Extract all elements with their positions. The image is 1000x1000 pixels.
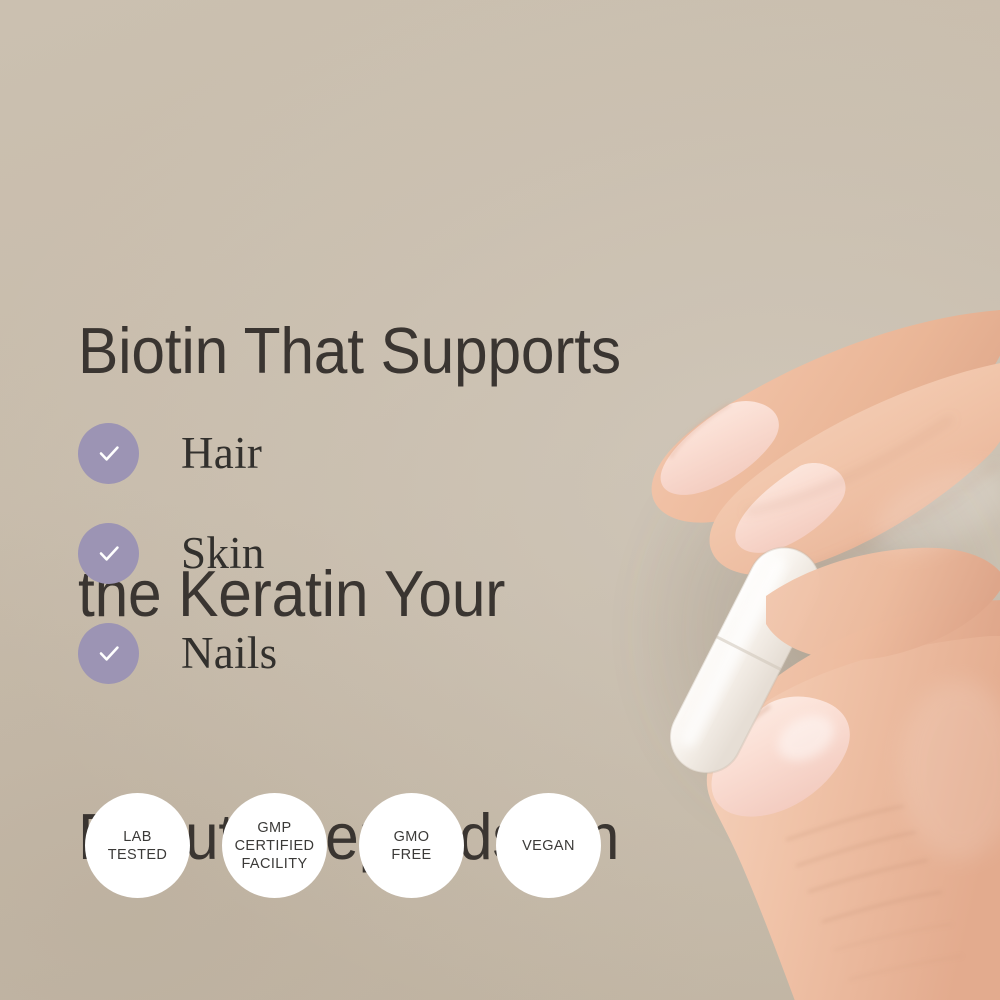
product-marketing-card: Biotin That Supports the Keratin Your Be… [0, 0, 1000, 1000]
check-icon [78, 523, 139, 584]
check-icon [78, 423, 139, 484]
trust-badge-group: LAB TESTED GMP CERTIFIED FACILITY GMO FR… [85, 793, 601, 898]
badge-line: GMO [394, 828, 430, 846]
badge-line: CERTIFIED [235, 837, 315, 855]
badge-line: FREE [391, 846, 431, 864]
badge-line: VEGAN [522, 837, 575, 855]
benefit-label-hair: Hair [181, 431, 262, 476]
trust-badge-gmp-certified-facility: GMP CERTIFIED FACILITY [222, 793, 327, 898]
badge-line: LAB [123, 828, 152, 846]
badge-line: GMP [257, 819, 291, 837]
badge-line: TESTED [108, 846, 168, 864]
check-icon [78, 623, 139, 684]
benefit-item-nails: Nails [78, 622, 408, 684]
trust-badge-lab-tested: LAB TESTED [85, 793, 190, 898]
headline-line-1: Biotin That Supports [78, 310, 729, 391]
benefit-item-skin: Skin [78, 522, 408, 584]
trust-badge-vegan: VEGAN [496, 793, 601, 898]
benefit-list: Hair Skin Nails [78, 422, 408, 684]
badge-line: FACILITY [241, 855, 307, 873]
benefit-label-nails: Nails [181, 631, 278, 676]
trust-badge-gmo-free: GMO FREE [359, 793, 464, 898]
benefit-label-skin: Skin [181, 531, 265, 576]
benefit-item-hair: Hair [78, 422, 408, 484]
